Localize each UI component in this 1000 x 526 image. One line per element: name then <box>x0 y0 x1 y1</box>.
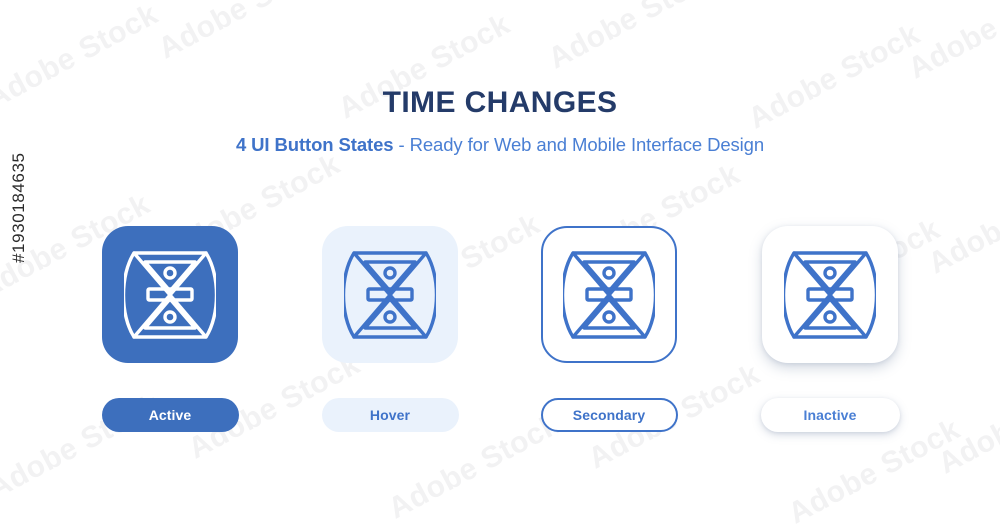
button-label: Inactive <box>804 407 857 423</box>
page-subtitle: 4 UI Button States - Ready for Web and M… <box>0 134 1000 156</box>
state-active: Active <box>70 226 270 432</box>
subtitle-rest: - Ready for Web and Mobile Interface Des… <box>393 134 764 155</box>
button-hover[interactable]: Hover <box>322 398 459 432</box>
time-changes-hourglass-icon <box>563 245 655 345</box>
state-hover: Hover <box>290 226 490 432</box>
watermark-text: Adobe Stock <box>543 0 726 76</box>
button-inactive[interactable]: Inactive <box>761 398 900 432</box>
button-active[interactable]: Active <box>102 398 239 432</box>
time-changes-hourglass-icon <box>124 245 216 345</box>
icon-card-active[interactable] <box>102 226 238 363</box>
icon-card-inactive[interactable] <box>762 226 898 363</box>
watermark-text: Adobe Stock <box>153 0 336 66</box>
icon-card-hover[interactable] <box>322 226 458 363</box>
poster-stage: Adobe Stock Adobe Stock Adobe Stock Adob… <box>0 0 1000 526</box>
icon-card-secondary[interactable] <box>541 226 677 363</box>
subtitle-strong: 4 UI Button States <box>236 134 394 155</box>
stock-image-id: #1930184635 <box>9 152 29 263</box>
time-changes-hourglass-icon <box>344 245 436 345</box>
button-label: Secondary <box>573 407 646 423</box>
watermark-text: Adobe Stock <box>903 0 1000 86</box>
state-secondary: Secondary <box>509 226 709 432</box>
button-label: Hover <box>370 407 410 423</box>
button-label: Active <box>149 407 192 423</box>
button-secondary[interactable]: Secondary <box>541 398 678 432</box>
page-title: TIME CHANGES <box>0 86 1000 120</box>
button-states-row: Active <box>0 226 1000 441</box>
state-inactive: Inactive <box>730 226 930 432</box>
time-changes-hourglass-icon <box>784 245 876 345</box>
